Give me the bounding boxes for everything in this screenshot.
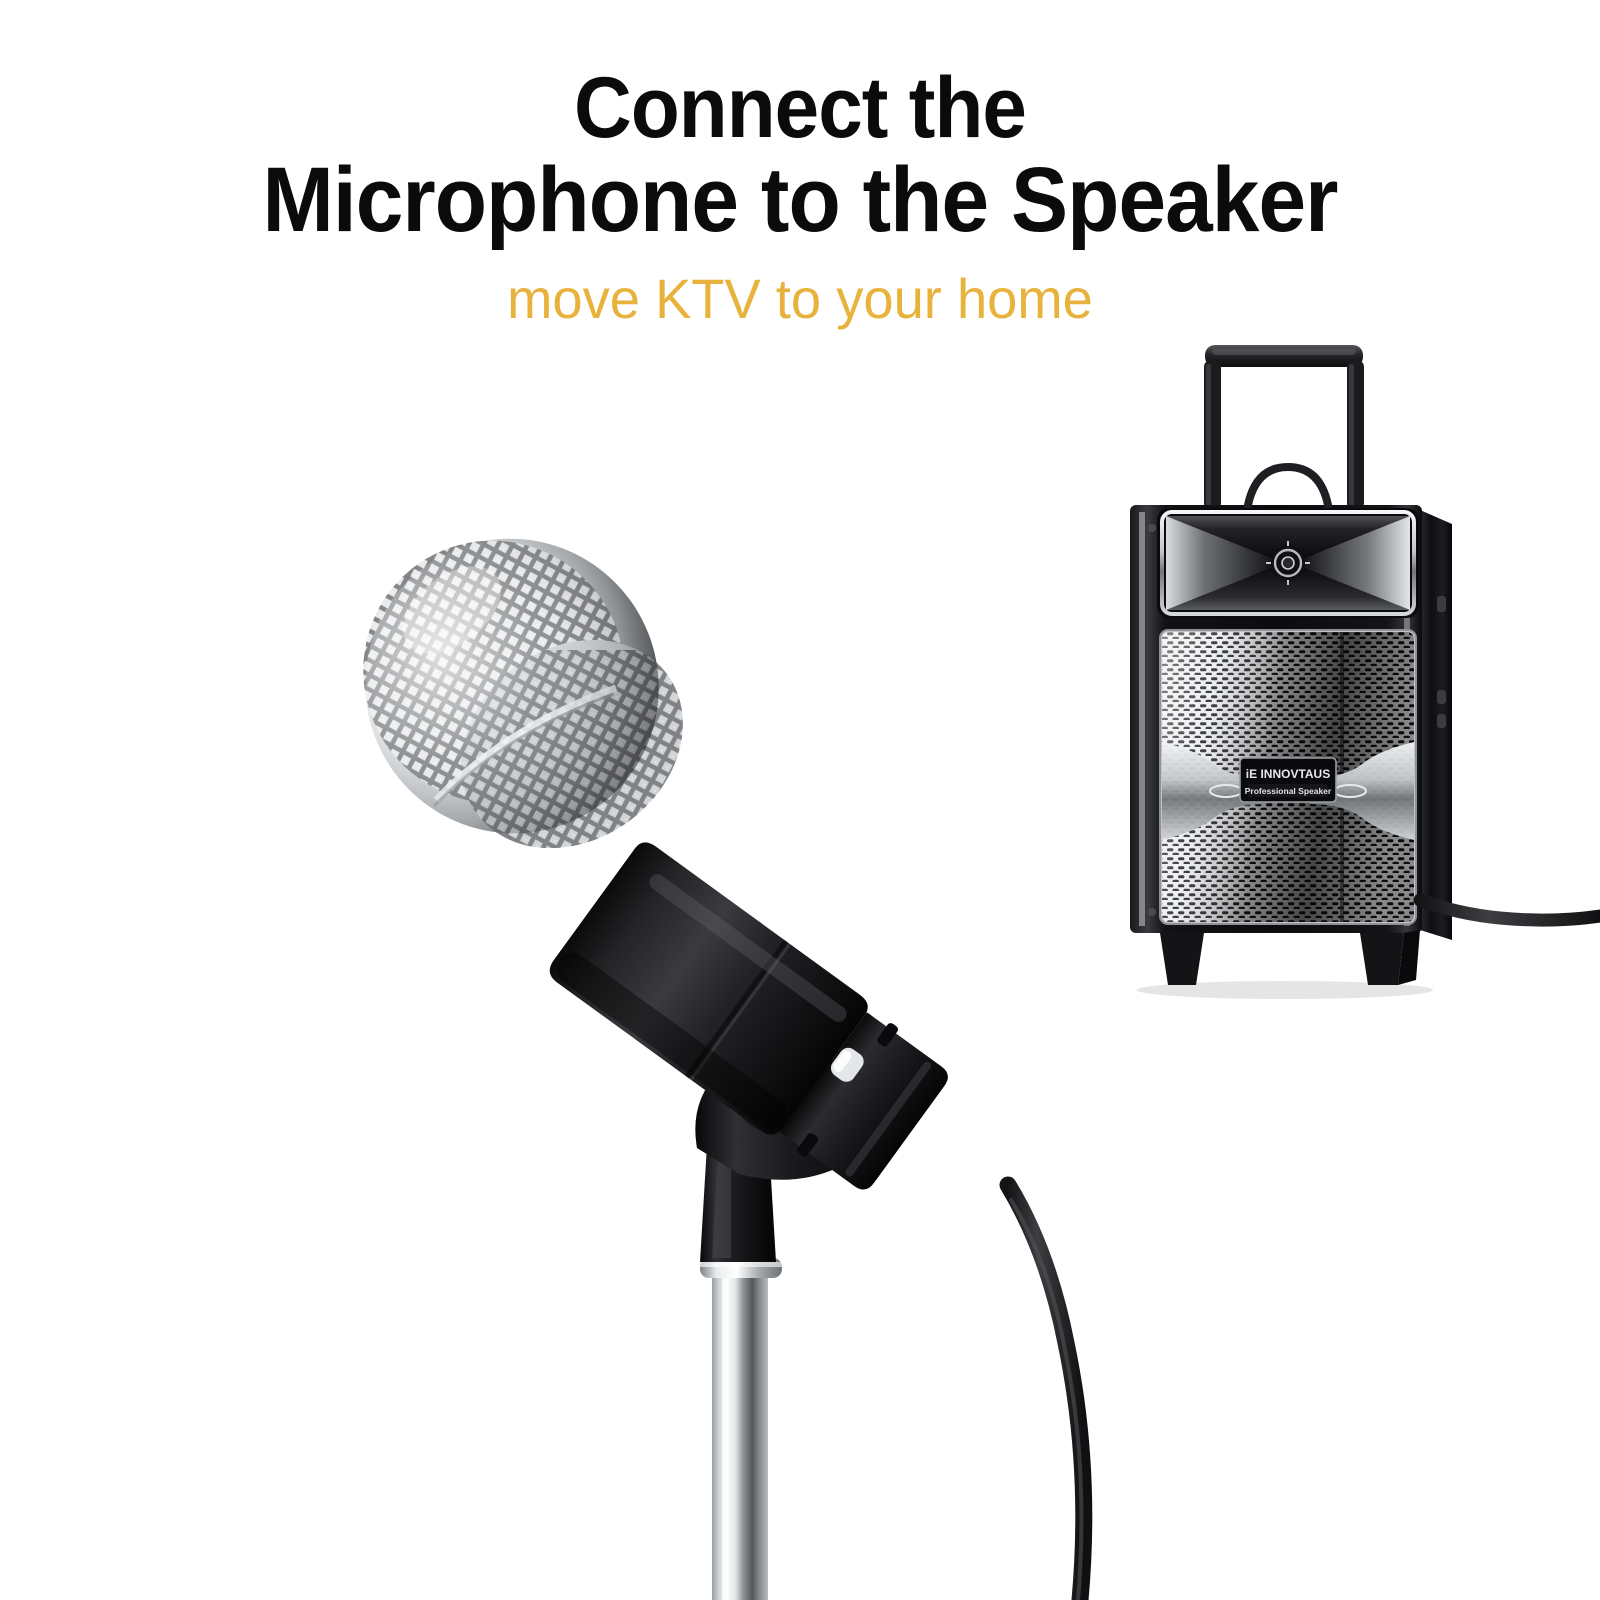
speaker-hotspot (1120, 336, 1460, 996)
microphone-hotspot (352, 512, 1052, 1212)
cable-illustration (1008, 900, 1600, 1600)
microphone-stand-pole (712, 1275, 768, 1600)
promo-banner: Connect the Microphone to the Speaker mo… (0, 0, 1600, 1600)
